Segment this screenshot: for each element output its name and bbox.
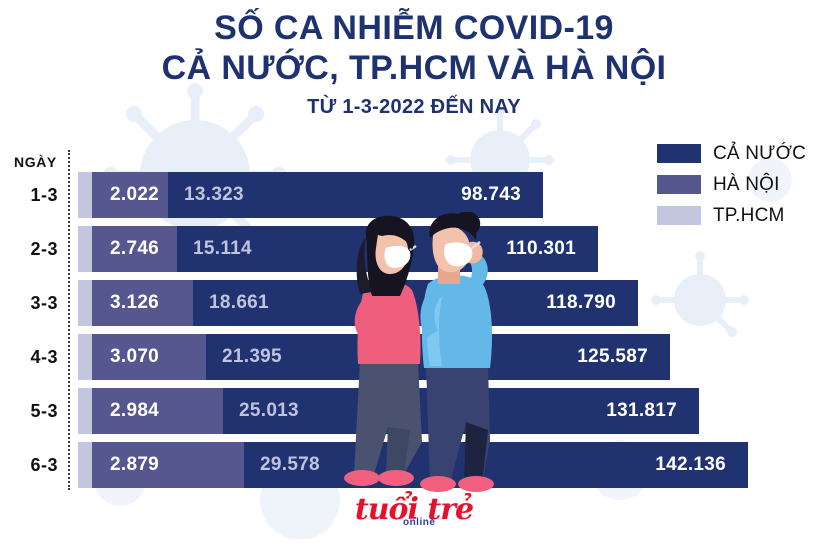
bar-segment-ha-noi: 2.022 xyxy=(92,172,168,218)
legend-label-tphcm: TP.HCM xyxy=(713,205,785,227)
bar-value-tphcm: 3.126 xyxy=(110,292,159,314)
row-label-day: 3-3 xyxy=(0,280,58,326)
stacked-bar: 2.74615.114110.301 xyxy=(78,226,598,272)
bar-value-ca-nuoc: 131.817 xyxy=(606,400,677,422)
bar-segment-tphcm xyxy=(78,388,92,434)
legend-swatch-ha-noi xyxy=(657,175,701,194)
bar-value-ha-noi: 25.013 xyxy=(239,400,299,422)
legend-item-tphcm: TP.HCM xyxy=(657,200,806,231)
chart-header: SỐ CA NHIỄM COVID-19 CẢ NƯỚC, TP.HCM VÀ … xyxy=(0,8,828,120)
stacked-bar: 2.87929.578142.136 xyxy=(78,442,748,488)
legend-label-ha-noi: HÀ NỘI xyxy=(713,174,780,196)
bar-segment-tphcm xyxy=(78,442,92,488)
bar-value-tphcm: 2.746 xyxy=(110,238,159,260)
logo-text-sub: online xyxy=(403,517,435,528)
bar-value-tphcm: 3.070 xyxy=(110,346,159,368)
bar-segment-ha-noi: 3.070 xyxy=(92,334,206,380)
row-label-day: 2-3 xyxy=(0,226,58,272)
legend-item-ca-nuoc: CẢ NƯỚC xyxy=(657,138,806,169)
bar-value-ha-noi: 15.114 xyxy=(193,238,252,260)
bar-value-tphcm: 2.022 xyxy=(110,184,159,206)
bar-segment-ca-nuoc: 13.32398.743 xyxy=(168,172,543,218)
axis-label-ngay: NGÀY xyxy=(14,154,57,170)
table-row: 4-33.07021.395125.587 xyxy=(0,334,828,380)
table-row: 3-33.12618.661118.790 xyxy=(0,280,828,326)
bar-value-ha-noi: 29.578 xyxy=(260,454,320,476)
legend-item-ha-noi: HÀ NỘI xyxy=(657,169,806,200)
stacked-bar: 2.02213.32398.743 xyxy=(78,172,543,218)
page-subtitle: TỪ 1-3-2022 ĐẾN NAY xyxy=(0,94,828,120)
legend-swatch-ca-nuoc xyxy=(657,144,701,163)
chart-legend: CẢ NƯỚC HÀ NỘI TP.HCM xyxy=(657,138,806,231)
bar-value-tphcm: 2.879 xyxy=(110,454,159,476)
bar-segment-ha-noi: 2.879 xyxy=(92,442,244,488)
bar-segment-ca-nuoc: 15.114110.301 xyxy=(177,226,598,272)
legend-swatch-tphcm xyxy=(657,206,701,225)
bar-value-ca-nuoc: 98.743 xyxy=(461,184,521,206)
bar-segment-ca-nuoc: 25.013131.817 xyxy=(223,388,699,434)
stacked-bar: 3.12618.661118.790 xyxy=(78,280,638,326)
bar-segment-ca-nuoc: 21.395125.587 xyxy=(206,334,670,380)
bar-value-ha-noi: 21.395 xyxy=(222,346,282,368)
bar-segment-tphcm xyxy=(78,334,92,380)
bar-value-ha-noi: 13.323 xyxy=(184,184,244,206)
row-label-day: 5-3 xyxy=(0,388,58,434)
table-row: 2-32.74615.114110.301 xyxy=(0,226,828,272)
bar-segment-ha-noi: 2.984 xyxy=(92,388,223,434)
bar-segment-tphcm xyxy=(78,172,92,218)
table-row: 5-32.98425.013131.817 xyxy=(0,388,828,434)
bar-value-ca-nuoc: 110.301 xyxy=(506,238,576,260)
publisher-logo[interactable]: tuổi trẻ online xyxy=(0,495,828,525)
bar-value-tphcm: 2.984 xyxy=(110,400,159,422)
legend-label-ca-nuoc: CẢ NƯỚC xyxy=(713,143,806,165)
bar-segment-ca-nuoc: 18.661118.790 xyxy=(193,280,638,326)
table-row: 6-32.87929.578142.136 xyxy=(0,442,828,488)
bar-value-ca-nuoc: 118.790 xyxy=(546,292,616,314)
bar-segment-ha-noi: 2.746 xyxy=(92,226,177,272)
row-label-day: 4-3 xyxy=(0,334,58,380)
bar-value-ca-nuoc: 142.136 xyxy=(655,454,726,476)
stacked-bar: 2.98425.013131.817 xyxy=(78,388,699,434)
bar-segment-tphcm xyxy=(78,226,92,272)
row-label-day: 6-3 xyxy=(0,442,58,488)
page-title-line2: CẢ NƯỚC, TP.HCM VÀ HÀ NỘI xyxy=(0,48,828,88)
page-title-line1: SỐ CA NHIỄM COVID-19 xyxy=(0,8,828,48)
bar-segment-ha-noi: 3.126 xyxy=(92,280,193,326)
stacked-bar: 3.07021.395125.587 xyxy=(78,334,670,380)
bar-segment-tphcm xyxy=(78,280,92,326)
bar-value-ha-noi: 18.661 xyxy=(209,292,269,314)
bar-segment-ca-nuoc: 29.578142.136 xyxy=(244,442,748,488)
bar-value-ca-nuoc: 125.587 xyxy=(577,346,648,368)
row-label-day: 1-3 xyxy=(0,172,58,218)
